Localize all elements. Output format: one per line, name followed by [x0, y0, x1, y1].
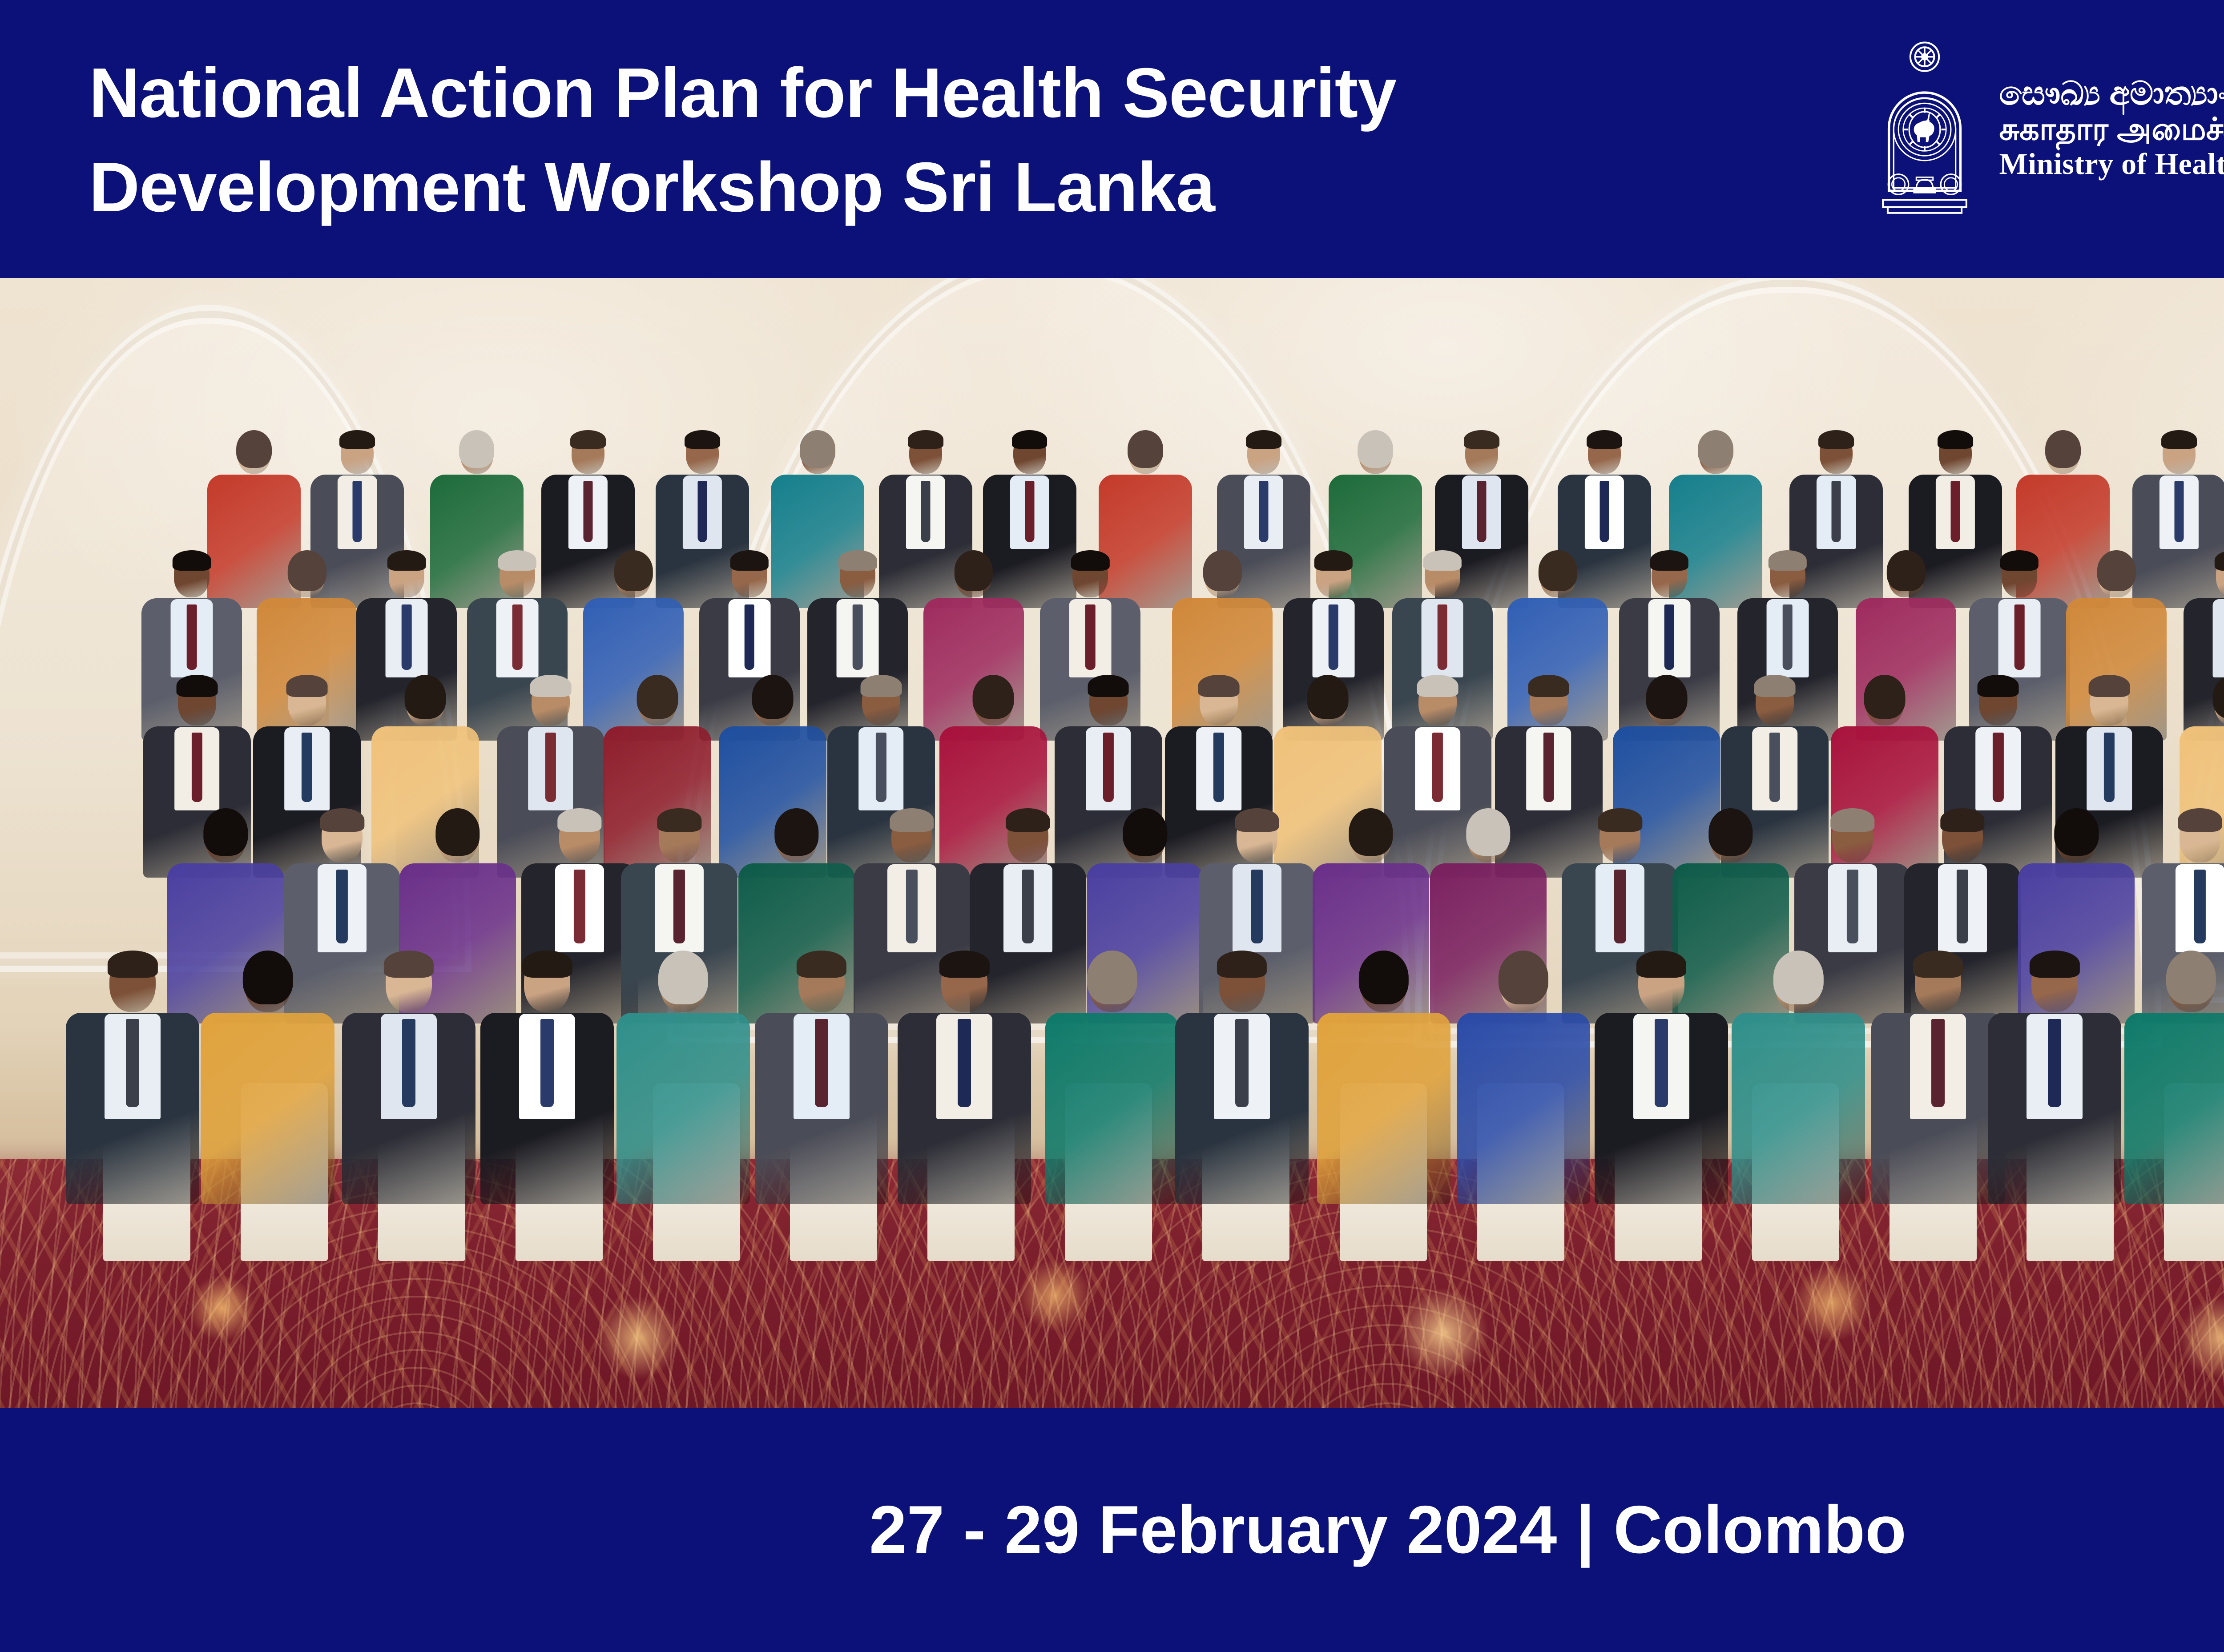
participant-hair [1423, 550, 1461, 571]
participant-hair [1698, 430, 1733, 468]
participant-hair [1464, 430, 1499, 449]
participant-hair [2166, 951, 2216, 1004]
participant-hair [1587, 430, 1622, 449]
event-banner: National Action Plan for Health Security… [0, 0, 2224, 1652]
participant-hair [1088, 675, 1129, 697]
participant-tie [1769, 733, 1780, 802]
participant-tie [1782, 604, 1793, 670]
participant-hair [1349, 808, 1393, 856]
participant-hair [286, 675, 327, 697]
participant-tie [2174, 481, 2184, 542]
participant-hair [2030, 951, 2079, 978]
participant-hair [685, 430, 720, 449]
participant-hair [1773, 951, 1823, 1004]
participant-tie [1251, 870, 1262, 943]
participant-hair [2089, 675, 2130, 697]
participant-tie [1957, 870, 1968, 943]
participant-torso [1457, 1013, 1590, 1204]
participant-hair [435, 808, 479, 856]
participant [1045, 945, 1179, 1213]
participant-hair [1528, 675, 1569, 697]
participant [342, 945, 475, 1213]
page-title: National Action Plan for Health Security… [89, 46, 1646, 234]
participant-tie [697, 481, 707, 542]
participant-hair [1499, 951, 1548, 1004]
participant-tie [402, 604, 412, 670]
participant-hair [1830, 808, 1874, 832]
participant [898, 945, 1031, 1213]
participant-hair [1123, 808, 1167, 856]
participant-tie [192, 733, 202, 802]
participant-hair [657, 808, 701, 832]
participant-tie [187, 604, 197, 670]
participant-hair [838, 550, 877, 571]
participant-tie [1600, 481, 1609, 542]
participant-hair [236, 430, 272, 468]
participant-hair [1887, 550, 1925, 591]
participant-tie [336, 870, 348, 943]
participant-hair [459, 430, 495, 468]
participant-hair [1636, 951, 1686, 978]
participant-torso [1732, 1013, 1865, 1204]
participant-torso [2124, 1013, 2224, 1204]
participant-hair [1087, 951, 1137, 1004]
participant-hair [522, 951, 572, 978]
participant-tie [1832, 481, 1841, 542]
participant-hair [1128, 430, 1163, 468]
participant-tie [512, 604, 523, 670]
participant-tie [1085, 604, 1096, 670]
participant-hair [797, 951, 846, 978]
participant-hair [1768, 550, 1806, 571]
participant [616, 945, 750, 1213]
participant-hair [1864, 675, 1905, 719]
participant-tie [1328, 604, 1338, 670]
participant-hair [973, 675, 1014, 719]
participant [1457, 945, 1590, 1213]
participant-hair [1978, 675, 2019, 697]
participant-tie [1022, 870, 1033, 943]
participant-torso [616, 1013, 750, 1204]
participant-torso [201, 1013, 334, 1204]
participant-tie [673, 870, 685, 943]
participant-tie [1655, 1019, 1668, 1107]
participant-hair [1646, 675, 1688, 719]
sri-lanka-national-emblem-icon [1865, 38, 1984, 218]
participant-hair [1417, 675, 1458, 697]
participant [1988, 945, 2121, 1213]
participant-tie [353, 481, 362, 542]
participant-hair [860, 675, 902, 697]
participant-tie [2014, 604, 2025, 670]
participant-hair [1940, 808, 1984, 832]
participant-hair [939, 951, 989, 978]
participant-hair [176, 675, 218, 697]
participant-tie [876, 733, 886, 802]
participant-hair [1071, 550, 1109, 571]
participant-hair [1006, 808, 1050, 832]
title-line-2: Development Workshop Sri Lanka [89, 141, 1646, 235]
participant-hair [1598, 808, 1642, 832]
participant-tie [302, 733, 312, 802]
participant-hair [1198, 675, 1240, 697]
participant-hair [1938, 430, 1973, 449]
participant-tie [2104, 733, 2115, 802]
participant-hair [340, 430, 375, 449]
participant-hair [908, 430, 943, 449]
participant [1175, 945, 1309, 1213]
participant-hair [800, 430, 835, 468]
participant-tie [573, 870, 585, 943]
participant-torso [1045, 1013, 1179, 1204]
participant [2124, 945, 2224, 1213]
ministry-of-health-text: සෞඛ්‍ය අමාත්‍යාංශය சுகாதார அமைச்சு Minis… [1999, 77, 2224, 180]
participant-hair [637, 675, 678, 719]
participant-hair [1819, 430, 1854, 449]
participant-tie [1614, 870, 1626, 943]
participant-hair [1754, 675, 1796, 697]
participant [480, 945, 614, 1213]
participant-tie [1235, 1019, 1249, 1107]
participant-hair [1246, 430, 1281, 449]
participant-tie [1437, 604, 1447, 670]
participant-hair [1217, 951, 1267, 978]
participant-tie [1993, 733, 2003, 802]
participant-hair [1314, 550, 1353, 571]
participant [1871, 945, 2005, 1213]
participant-hair [2045, 430, 2081, 468]
participant-hair [2097, 550, 2135, 591]
logo-group: සෞඛ්‍ය අමාත්‍යාංශය சுகாதார அமைச்சு Minis… [1865, 38, 2224, 234]
participant-hair [1708, 808, 1753, 856]
participant-hair [1466, 808, 1510, 856]
moh-label-tamil: சுகாதார அமைச்சு [1999, 113, 2224, 145]
participant-tie [921, 481, 931, 542]
participant-hair [288, 550, 326, 591]
participant-hair [1307, 675, 1349, 719]
participant [201, 945, 334, 1213]
participant-hair [1235, 808, 1279, 832]
participant-tie [402, 1019, 415, 1107]
participant-hair [1203, 550, 1241, 591]
participant-tie [853, 604, 863, 670]
participant-hair [2178, 808, 2222, 832]
banner-header: National Action Plan for Health Security… [0, 0, 2224, 278]
participant-hair [752, 675, 794, 719]
participant [66, 945, 199, 1213]
participant [1732, 945, 1865, 1213]
participant-hair [1539, 550, 1577, 591]
moh-label-sinhala: සෞඛ්‍ය අමාත්‍යාංශය [1999, 77, 2224, 110]
participant-tie [126, 1019, 139, 1107]
participant-torso [1317, 1013, 1450, 1204]
participant-hair [614, 550, 653, 591]
participant-hair [1012, 430, 1048, 449]
participant-hair [730, 550, 769, 571]
participant-hair [204, 808, 248, 856]
participant-hair [1359, 951, 1409, 1004]
participant-tie [958, 1019, 971, 1107]
participant-tie [1103, 733, 1113, 802]
participant-tie [1477, 481, 1486, 542]
banner-footer: 27 - 29 February 2024 | Colombo [0, 1408, 2224, 1652]
participant [755, 945, 888, 1213]
participants-group [0, 278, 2224, 1408]
participant-tie [545, 733, 556, 802]
participant-hair [108, 951, 157, 978]
group-photo [0, 278, 2224, 1408]
participant-hair [774, 808, 818, 856]
title-line-1: National Action Plan for Health Security [89, 46, 1646, 141]
participant-tie [815, 1019, 828, 1107]
participant [1595, 945, 1728, 1213]
participant-hair [570, 430, 606, 449]
participant-tie [1259, 481, 1269, 542]
participant-tie [745, 604, 755, 670]
participant-tie [1664, 604, 1674, 670]
participant-hair [173, 550, 211, 571]
participant-hair [890, 808, 934, 832]
participant-hair [498, 550, 536, 571]
participant-hair [658, 951, 708, 1004]
participant-tie [906, 870, 917, 943]
participant-hair [404, 675, 446, 719]
participant-hair [530, 675, 571, 697]
participant-tie [2048, 1019, 2061, 1107]
participant-shirt [2213, 599, 2224, 677]
participant-hair [1913, 951, 1963, 978]
participant-tie [583, 481, 592, 542]
participant-hair [557, 808, 601, 832]
participant-hair [954, 550, 992, 591]
participant-hair [2215, 550, 2224, 571]
participant-hair [2000, 550, 2039, 571]
participant-hair [387, 550, 426, 571]
participant-tie [1543, 733, 1554, 802]
participant-tie [1931, 1019, 1945, 1107]
participant-hair [383, 951, 433, 978]
participant-tie [1847, 870, 1858, 943]
participant-hair [2054, 808, 2098, 856]
participant-hair [2213, 675, 2224, 719]
participant-tie [1951, 481, 1960, 542]
participant [1317, 945, 1450, 1213]
participant-hair [1650, 550, 1688, 571]
participant-hair [320, 808, 364, 832]
participant-tie [2194, 870, 2206, 943]
moh-label-english: Ministry of Health [1999, 148, 2224, 180]
participant-tie [1213, 733, 1224, 802]
participant-tie [1432, 733, 1443, 802]
participant-tie [1025, 481, 1034, 542]
event-date-location: 27 - 29 February 2024 | Colombo [869, 1491, 1906, 1569]
participant-hair [1358, 430, 1393, 468]
participant-hair [243, 951, 293, 1004]
participant-hair [2161, 430, 2197, 449]
ministry-of-health-logo: සෞඛ්‍ය අමාත්‍යාංශය சுகாதார அமைச்சு Minis… [1865, 38, 2224, 218]
participant-tie [540, 1019, 554, 1107]
